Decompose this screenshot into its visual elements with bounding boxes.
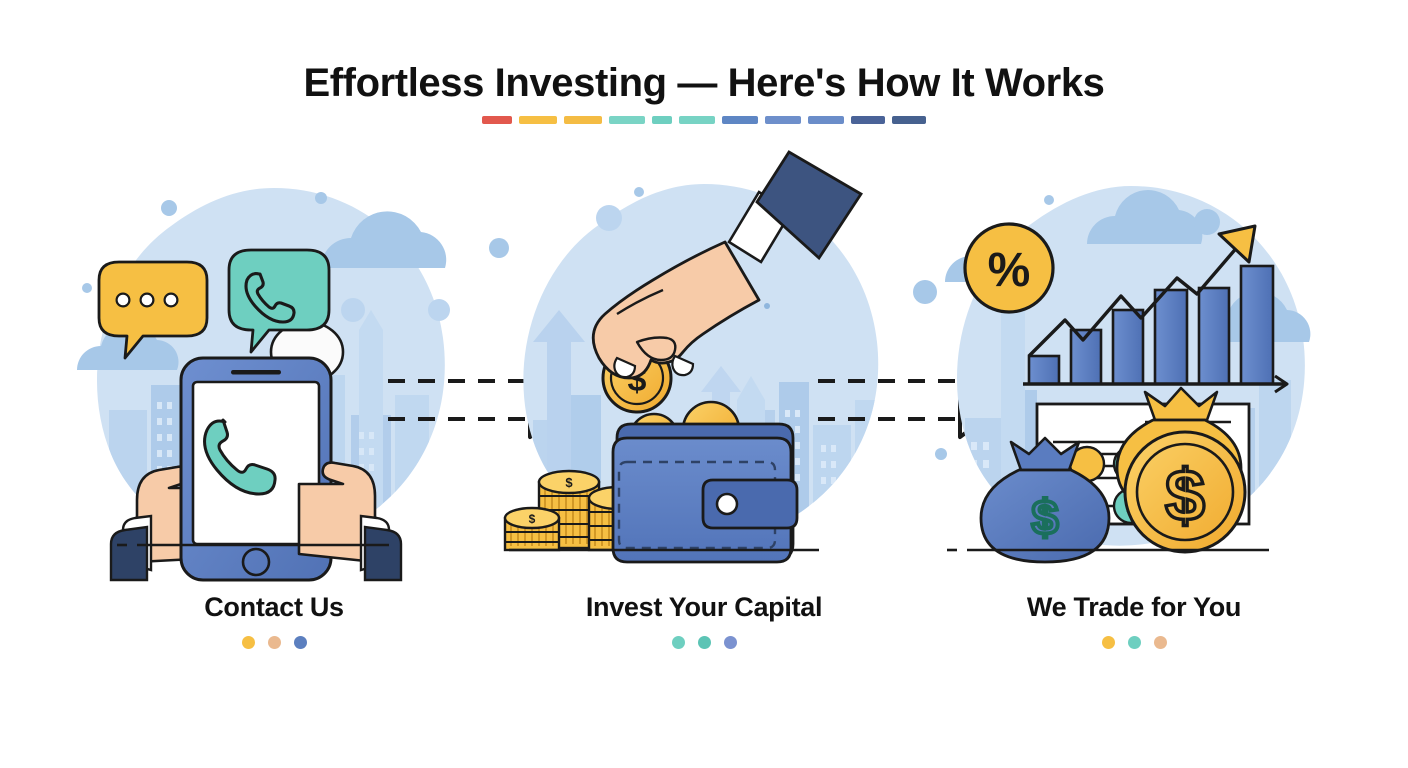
steps-row: Contact Us	[0, 170, 1408, 690]
step-panel-contact-us[interactable]: Contact Us	[59, 170, 489, 690]
step-panel-we-trade-for-you[interactable]: %	[919, 170, 1349, 690]
step-dot-0	[1102, 636, 1115, 649]
title-dash-7	[765, 116, 801, 124]
title-dash-1	[519, 116, 557, 124]
step-dots-we-trade-for-you	[1102, 636, 1167, 649]
percent-badge-icon: %	[965, 224, 1053, 312]
step-dot-0	[672, 636, 685, 649]
title-dash-8	[808, 116, 844, 124]
header: Effortless Investing — Here's How It Wor…	[0, 60, 1408, 125]
svg-text:$: $	[1032, 492, 1059, 545]
infographic-page: Effortless Investing — Here's How It Wor…	[0, 0, 1408, 768]
step-dot-2	[294, 636, 307, 649]
dollar-coin-icon: $	[1125, 432, 1245, 552]
title-dash-0	[482, 116, 512, 124]
title-dash-4	[652, 116, 672, 124]
illustration-invest-your-capital: $	[489, 170, 919, 580]
step-caption: Invest Your Capital	[586, 592, 822, 623]
title-dash-3	[609, 116, 645, 124]
title-dash-10	[892, 116, 926, 124]
step-dot-2	[1154, 636, 1167, 649]
title-dash-2	[564, 116, 602, 124]
step-dots-invest-your-capital	[672, 636, 737, 649]
step-dot-1	[268, 636, 281, 649]
step-dots-contact-us	[242, 636, 307, 649]
wallet-icon[interactable]	[613, 424, 797, 562]
page-title: Effortless Investing — Here's How It Wor…	[0, 60, 1408, 106]
illustration-contact-us	[59, 170, 489, 580]
step-dot-1	[698, 636, 711, 649]
step-dot-2	[724, 636, 737, 649]
svg-text:$: $	[565, 475, 573, 490]
title-dash-9	[851, 116, 885, 124]
step-panel-invest-your-capital[interactable]: $	[489, 170, 919, 690]
step-caption: Contact Us	[204, 592, 344, 623]
step-caption: We Trade for You	[1027, 592, 1241, 623]
step-dot-0	[242, 636, 255, 649]
percent-symbol: %	[988, 244, 1031, 297]
title-dash-6	[722, 116, 758, 124]
illustration-we-trade-for-you: %	[919, 170, 1349, 580]
title-dash-5	[679, 116, 715, 124]
title-underline-dashes	[0, 115, 1408, 125]
step-dot-1	[1128, 636, 1141, 649]
coin-dollar-symbol: $	[1165, 456, 1205, 536]
svg-text:$: $	[529, 512, 536, 526]
